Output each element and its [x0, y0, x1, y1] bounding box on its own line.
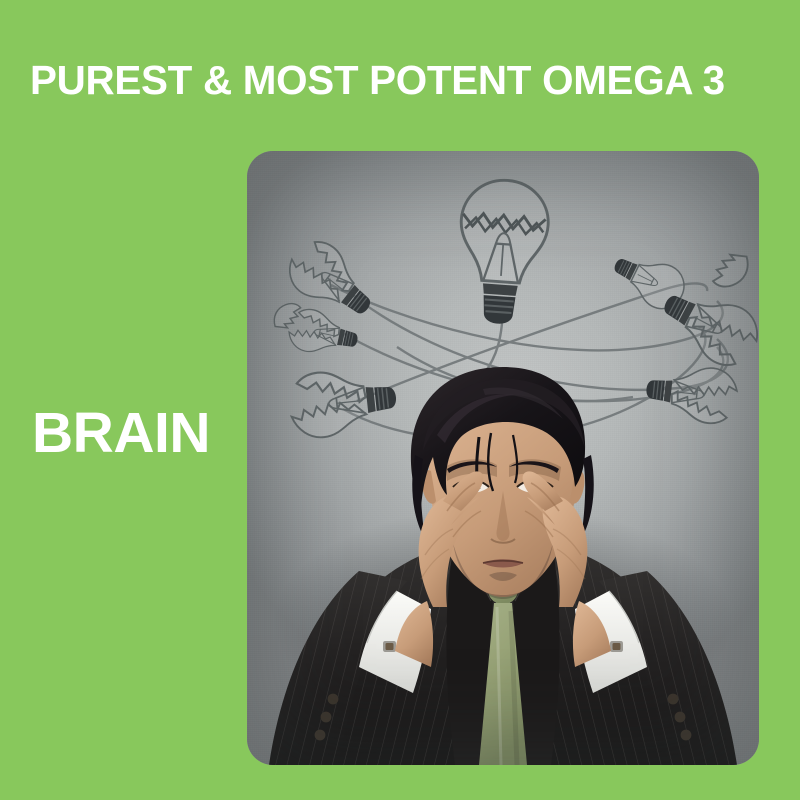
page-title: PUREST & MOST POTENT OMEGA 3 [30, 58, 779, 102]
poster-canvas: PUREST & MOST POTENT OMEGA 3 BRAIN [0, 0, 800, 800]
product-photo [247, 151, 759, 765]
benefit-label-brain: BRAIN [32, 404, 210, 462]
photo-vignette [247, 151, 759, 765]
